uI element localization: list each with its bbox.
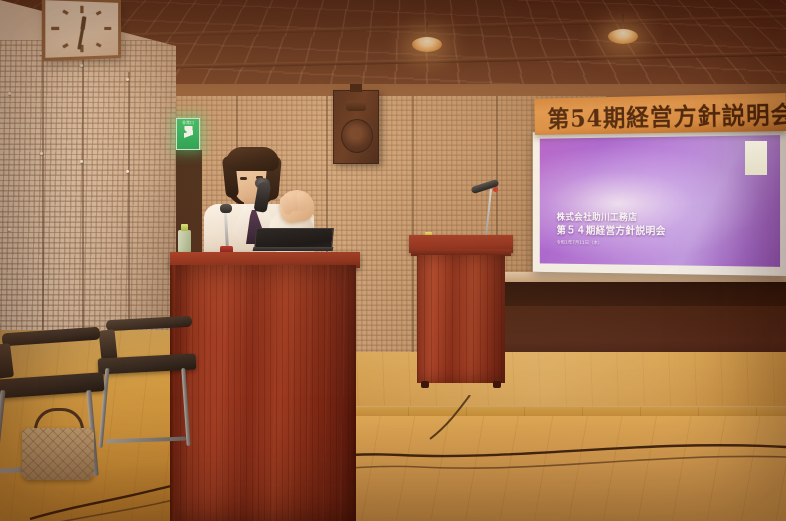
speaker-tweeter: [346, 101, 366, 111]
microphone-base-ring: [493, 187, 498, 192]
pendant-bulb: [412, 37, 442, 52]
chair-leg: [181, 368, 190, 446]
pendant-bulb: [608, 29, 638, 44]
wall-clock: [42, 0, 121, 61]
panel-seam: [82, 58, 84, 332]
eye: [240, 177, 247, 180]
panel-seam: [42, 48, 44, 332]
slide-title: 第５４期経営方針説明会: [557, 224, 666, 238]
handbag[interactable]: [22, 418, 94, 480]
water-bottle: [178, 224, 191, 254]
perforation-texture: [0, 40, 176, 332]
clock-tick: [62, 43, 69, 49]
slide-date: 令和1年7月11日（木）: [557, 240, 666, 247]
panel-seam: [128, 72, 130, 332]
panel-screw: [126, 170, 129, 173]
slide-company-name: 株式会社助川工務店: [557, 211, 666, 224]
panel-screw: [40, 152, 43, 155]
chair-leg: [0, 390, 6, 478]
podium-caster: [421, 381, 429, 388]
bag-monogram-pattern: [22, 428, 94, 480]
pendant-light: [412, 22, 442, 56]
hair-fringe: [226, 147, 279, 171]
wood-grain-texture: [174, 265, 356, 521]
clock-tick: [104, 27, 111, 30]
clock-tick: [62, 9, 69, 15]
wood-grain-texture: [417, 255, 505, 383]
empty-podium[interactable]: [409, 235, 513, 387]
bottle-body: [178, 230, 191, 254]
panel-screw: [8, 228, 11, 231]
chair-backrest: [2, 327, 101, 347]
running-person-icon: [184, 126, 193, 142]
panel-screw: [126, 78, 129, 81]
panel-screw: [80, 64, 83, 67]
banner-text: 第54期経営方針説明会: [547, 94, 786, 133]
panel-screw: [8, 92, 11, 95]
chair-crossbar: [106, 437, 186, 444]
overhead-banner: 第54期経営方針説明会: [534, 93, 786, 135]
clock-tick: [80, 6, 83, 13]
pendant-light: [608, 14, 638, 48]
chair-backrest: [106, 316, 192, 331]
speaker-bracket: [350, 84, 362, 92]
laptop[interactable]: [255, 228, 331, 253]
podium-caster: [493, 381, 501, 388]
slide-text-block: 株式会社助川工務店 第５４期経営方針説明会 令和1年7月11日（木）: [557, 211, 666, 246]
screen-corner-patch: [745, 141, 767, 175]
chair-armrest: [0, 343, 14, 379]
clock-tick: [51, 27, 59, 30]
podium-body: [174, 265, 356, 521]
photo-scene: 非常口 株式会社助川工務店 第５４期経営方針説明会 令和1年7月11日（木） 第…: [0, 0, 786, 521]
clock-tick: [96, 42, 102, 47]
microphone-head: [220, 204, 232, 213]
bag-body: [22, 428, 94, 480]
emergency-exit-sign: 非常口: [176, 118, 200, 150]
bottle-cap: [181, 224, 188, 231]
finger: [296, 192, 307, 212]
laptop-base: [253, 247, 334, 251]
podium-body: [417, 255, 505, 383]
panel-screw: [80, 160, 83, 163]
clock-hour-hand: [80, 16, 86, 30]
clock-tick: [96, 10, 102, 15]
